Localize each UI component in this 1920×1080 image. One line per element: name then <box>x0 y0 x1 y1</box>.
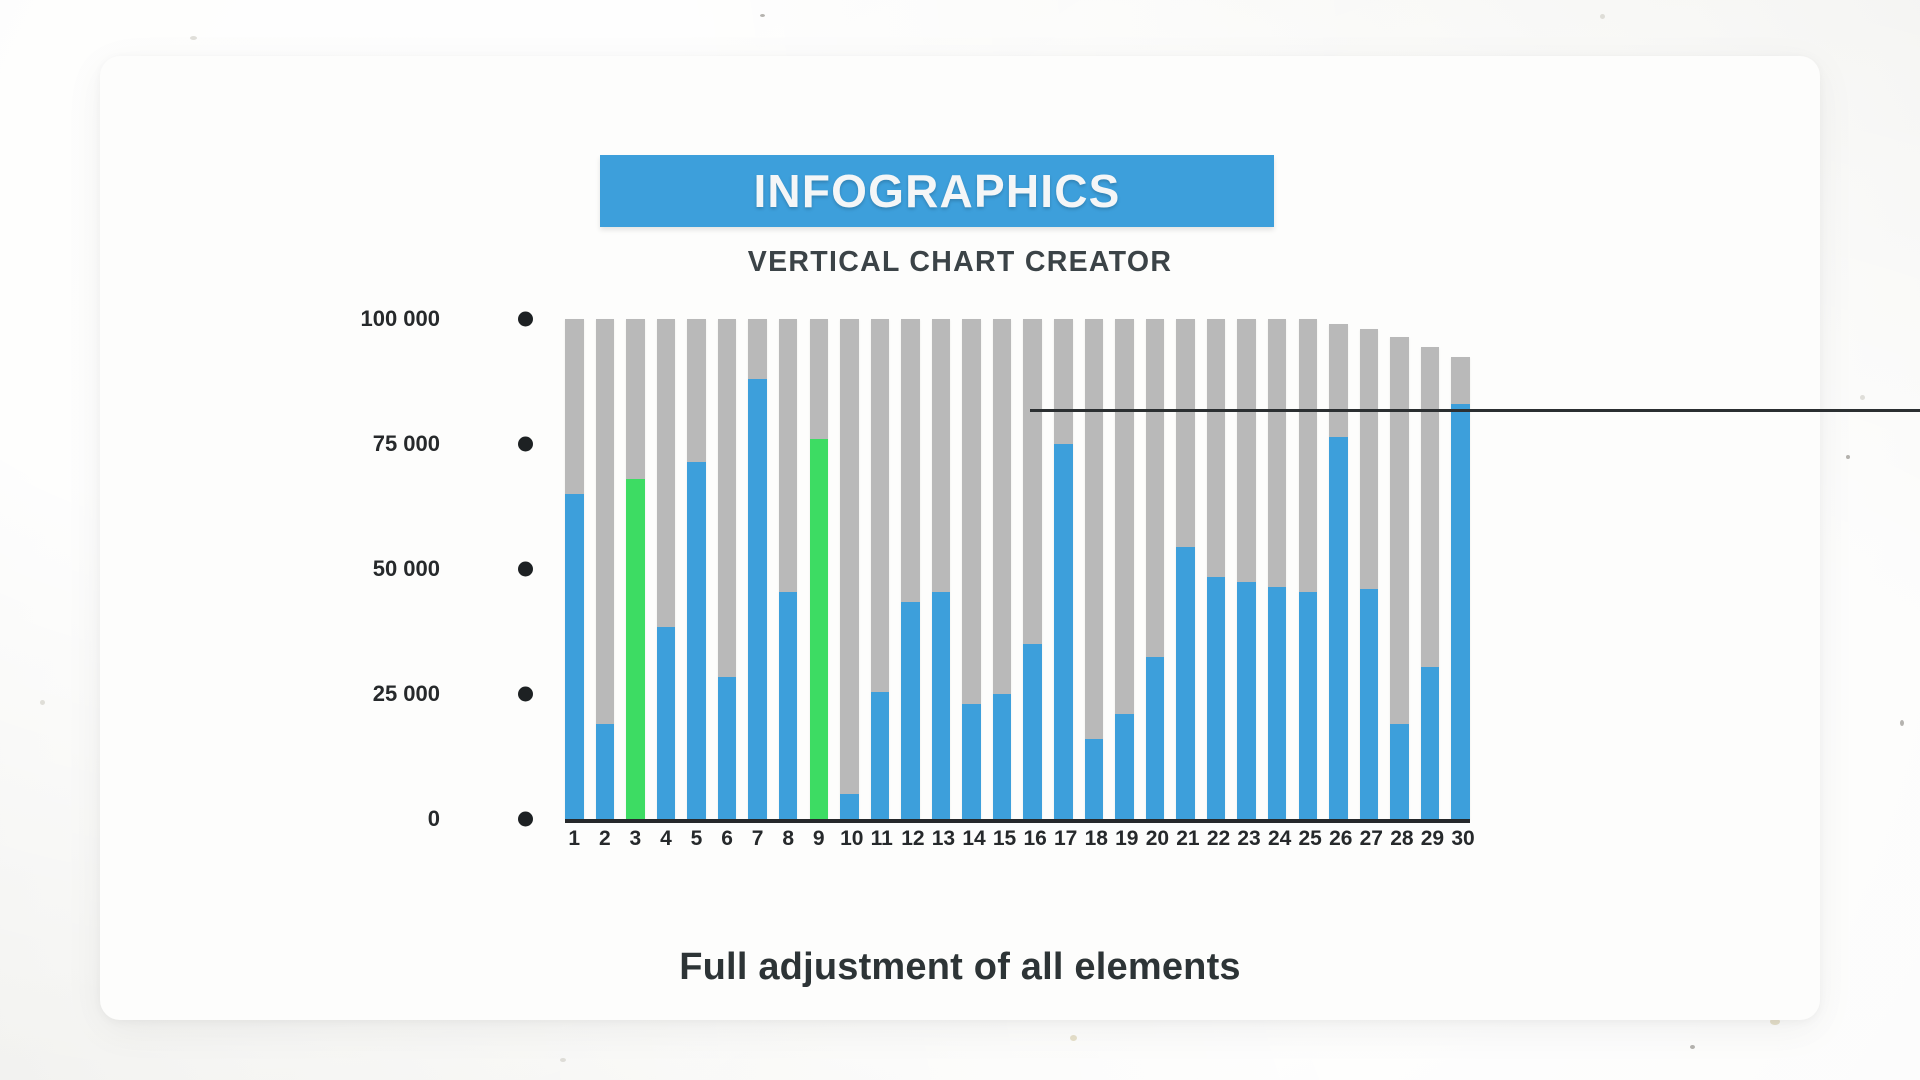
y-tick-label: 25 000 <box>373 681 440 707</box>
x-tick-container: 1234567891011121314151617181920212223242… <box>565 827 1470 851</box>
x-tick-label: 10 <box>840 827 859 851</box>
bar-fill <box>1023 644 1042 819</box>
bar-fill <box>1268 587 1287 820</box>
x-tick-label: 8 <box>779 827 798 851</box>
x-tick-label: 1 <box>565 827 584 851</box>
bar-group[interactable] <box>840 319 859 819</box>
bar-track <box>779 319 798 819</box>
bar-fill <box>1360 589 1379 819</box>
bar-group[interactable] <box>810 319 829 819</box>
bar-track <box>657 319 676 819</box>
x-tick-label: 29 <box>1421 827 1440 851</box>
bar-group[interactable] <box>1451 319 1470 819</box>
bar-group[interactable] <box>748 319 767 819</box>
bar-track <box>1360 329 1379 819</box>
bar-fill <box>901 602 920 820</box>
bar-group[interactable] <box>687 319 706 819</box>
bar-group[interactable] <box>596 319 615 819</box>
bar-group[interactable] <box>1237 319 1256 819</box>
bar-group[interactable] <box>901 319 920 819</box>
bar-group[interactable] <box>1085 319 1104 819</box>
bar-track <box>1268 319 1287 819</box>
bar-track <box>932 319 951 819</box>
bar-group[interactable] <box>932 319 951 819</box>
bar-group[interactable] <box>1390 319 1409 819</box>
x-tick-label: 20 <box>1146 827 1165 851</box>
bar-series-container <box>565 319 1470 819</box>
x-tick-label: 14 <box>962 827 981 851</box>
bar-track <box>626 319 645 819</box>
bar-track <box>993 319 1012 819</box>
bar-track <box>1299 319 1318 819</box>
x-tick-label: 24 <box>1268 827 1287 851</box>
bar-fill <box>687 462 706 820</box>
bar-fill <box>871 692 890 820</box>
bar-group[interactable] <box>993 319 1012 819</box>
bar-fill <box>1237 582 1256 820</box>
bar-track <box>748 319 767 819</box>
bar-track <box>1237 319 1256 819</box>
title-banner: INFOGRAPHICS <box>600 155 1274 227</box>
bar-group[interactable] <box>1023 319 1042 819</box>
bar-track <box>1023 319 1042 819</box>
x-axis-line <box>565 819 1470 823</box>
y-tick-dot <box>518 562 533 577</box>
x-tick-label: 16 <box>1023 827 1042 851</box>
bar-fill <box>1390 724 1409 819</box>
bar-track <box>1115 319 1134 819</box>
bar-fill <box>718 677 737 820</box>
y-tick-dot <box>518 812 533 827</box>
x-tick-label: 7 <box>748 827 767 851</box>
bar-track <box>687 319 706 819</box>
bar-fill <box>596 724 615 819</box>
bar-fill <box>1146 657 1165 820</box>
bar-fill <box>993 694 1012 819</box>
x-tick-label: 13 <box>932 827 951 851</box>
bar-group[interactable] <box>1360 319 1379 819</box>
bar-track <box>1176 319 1195 819</box>
bar-fill <box>932 592 951 820</box>
bar-group[interactable] <box>1421 319 1440 819</box>
bar-track <box>901 319 920 819</box>
bar-fill <box>840 794 859 819</box>
x-tick-label: 3 <box>626 827 645 851</box>
bar-group[interactable] <box>565 319 584 819</box>
x-tick-label: 18 <box>1085 827 1104 851</box>
x-tick-label: 21 <box>1176 827 1195 851</box>
x-tick-label: 9 <box>810 827 829 851</box>
x-tick-label: 15 <box>993 827 1012 851</box>
bar-fill <box>1085 739 1104 819</box>
bar-group[interactable] <box>1207 319 1226 819</box>
bar-track <box>1207 319 1226 819</box>
bar-group[interactable] <box>718 319 737 819</box>
bar-track <box>1054 319 1073 819</box>
bar-fill <box>1054 444 1073 819</box>
page-title: INFOGRAPHICS <box>753 164 1120 218</box>
bar-fill <box>1329 437 1348 820</box>
x-tick-label: 11 <box>871 827 890 851</box>
footer-caption: Full adjustment of all elements <box>100 946 1820 989</box>
bar-fill <box>657 627 676 820</box>
bar-track <box>962 319 981 819</box>
bar-group[interactable] <box>657 319 676 819</box>
x-tick-label: 12 <box>901 827 920 851</box>
bar-group[interactable] <box>962 319 981 819</box>
x-tick-label: 22 <box>1207 827 1226 851</box>
bar-group[interactable] <box>1146 319 1165 819</box>
x-tick-label: 23 <box>1237 827 1256 851</box>
bar-fill <box>1299 592 1318 820</box>
x-tick-label: 5 <box>687 827 706 851</box>
bar-group[interactable] <box>1115 319 1134 819</box>
bar-track <box>1421 347 1440 820</box>
bar-fill <box>1421 667 1440 820</box>
bar-fill <box>1207 577 1226 820</box>
bar-fill-highlight <box>810 439 829 819</box>
x-tick-label: 27 <box>1360 827 1379 851</box>
y-tick-label: 75 000 <box>373 431 440 457</box>
bar-track <box>810 319 829 819</box>
x-tick-label: 4 <box>657 827 676 851</box>
bar-group[interactable] <box>779 319 798 819</box>
bar-track <box>1146 319 1165 819</box>
bar-track <box>596 319 615 819</box>
bar-group[interactable] <box>871 319 890 819</box>
infographic-card: INFOGRAPHICS VERTICAL CHART CREATOR 025 … <box>100 56 1820 1020</box>
x-tick-label: 30 <box>1451 827 1470 851</box>
x-tick-label: 6 <box>718 827 737 851</box>
bar-fill <box>1451 404 1470 819</box>
y-tick-label: 100 000 <box>360 306 440 332</box>
bar-chart: 025 00050 00075 000100 000 2018 <box>565 319 1470 819</box>
bar-fill <box>1176 547 1195 820</box>
x-tick-label: 17 <box>1054 827 1073 851</box>
bar-track <box>1451 357 1470 820</box>
bar-fill <box>779 592 798 820</box>
x-tick-label: 25 <box>1299 827 1318 851</box>
bar-track <box>871 319 890 819</box>
bar-group[interactable] <box>1329 319 1348 819</box>
bar-fill <box>748 379 767 819</box>
x-tick-label: 19 <box>1115 827 1134 851</box>
y-tick-dot <box>518 437 533 452</box>
bar-group[interactable] <box>626 319 645 819</box>
bar-fill <box>962 704 981 819</box>
bar-group[interactable] <box>1268 319 1287 819</box>
bar-track <box>840 319 859 819</box>
bar-fill-highlight <box>626 479 645 819</box>
bar-group[interactable] <box>1176 319 1195 819</box>
bar-fill <box>1115 714 1134 819</box>
y-tick-dot <box>518 312 533 327</box>
y-tick-label: 0 <box>428 806 440 832</box>
x-tick-label: 28 <box>1390 827 1409 851</box>
bar-track <box>1085 319 1104 819</box>
y-tick-label: 50 000 <box>373 556 440 582</box>
bar-track <box>565 319 584 819</box>
y-tick-dot <box>518 687 533 702</box>
bar-track <box>1329 324 1348 819</box>
x-tick-label: 26 <box>1329 827 1348 851</box>
page-subtitle: VERTICAL CHART CREATOR <box>100 246 1820 279</box>
x-tick-label: 2 <box>596 827 615 851</box>
bar-group[interactable] <box>1054 319 1073 819</box>
bar-fill <box>565 494 584 819</box>
reference-line-2018 <box>1030 409 1920 412</box>
bar-track <box>718 319 737 819</box>
bar-group[interactable] <box>1299 319 1318 819</box>
